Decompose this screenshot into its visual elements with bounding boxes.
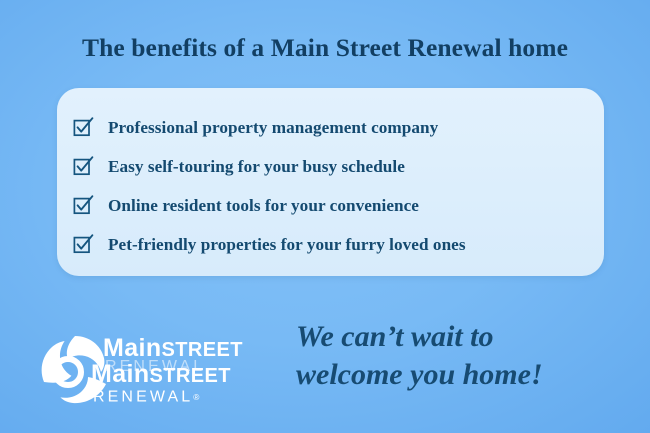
benefits-list: Professional property management company… [73,108,594,264]
poster-canvas: The benefits of a Main Street Renewal ho… [0,0,650,433]
list-item: Professional property management company [73,108,594,147]
tagline-line-2: welcome you home! [296,356,636,394]
benefit-label: Pet-friendly properties for your furry l… [108,235,466,255]
registered-trademark-symbol: ® [193,392,199,402]
checkbox-checked-icon [73,233,94,254]
wordmark-main: MainSTREET [91,361,231,389]
wordmark-street-text: STREET [150,365,231,387]
brand-logo: MainSTREET RENEWAL MainSTREET RENEWAL® [33,330,283,422]
benefit-label: Easy self-touring for your busy schedule [108,157,405,177]
checkbox-checked-icon [73,116,94,137]
list-item: Online resident tools for your convenien… [73,186,594,225]
tagline: We can’t wait to welcome you home! [296,318,636,394]
wordmark-sub-text: RENEWAL [93,388,193,405]
wordmark-main-text: Main [91,360,150,388]
list-item: Pet-friendly properties for your furry l… [73,225,594,264]
benefit-label: Professional property management company [108,118,438,138]
checkbox-checked-icon [73,155,94,176]
tagline-line-1: We can’t wait to [296,318,636,356]
list-item: Easy self-touring for your busy schedule [73,147,594,186]
benefits-card: Professional property management company… [57,88,604,276]
checkbox-checked-icon [73,194,94,215]
benefit-label: Online resident tools for your convenien… [108,196,419,216]
wordmark-sub: RENEWAL® [93,388,199,406]
page-title: The benefits of a Main Street Renewal ho… [0,33,650,63]
